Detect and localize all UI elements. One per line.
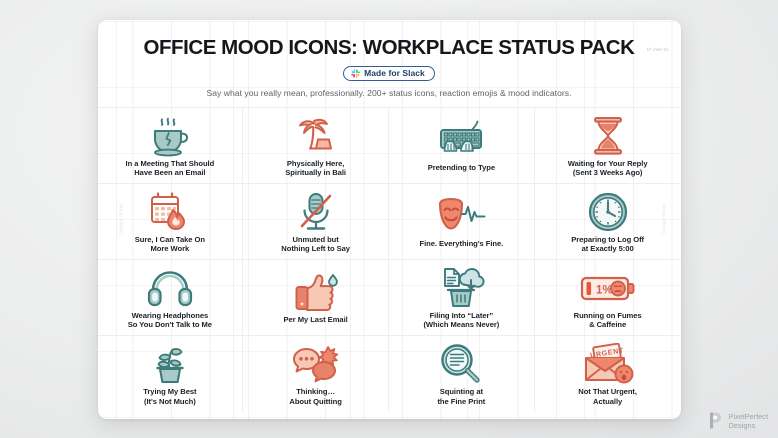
icon-cell-urgent-envelope[interactable]: URGENT Not That Urgent,Actually (535, 336, 681, 412)
magnifier-icon (438, 343, 484, 385)
brand-line-2: Designs (729, 421, 768, 430)
icon-caption: Thinking…About Quitting (289, 387, 341, 406)
brand-line-1: PixelPerfect (729, 412, 768, 421)
icon-caption: Wearing HeadphonesSo You Don't Talk to M… (128, 311, 212, 330)
calendar-fire-icon (147, 191, 193, 233)
wilting-plant-icon (146, 343, 194, 385)
icon-caption: Filing Into “Later”(Which Means Never) (423, 311, 499, 330)
thumbs-up-icon (293, 271, 339, 313)
side-note-left: Design Sheet (118, 204, 123, 234)
icon-cell-thumbs-up[interactable]: Per My Last Email (243, 260, 389, 336)
icon-caption: Physically Here,Spiritually in Bali (285, 159, 346, 178)
page-subtitle: Say what you really mean, professionally… (98, 88, 681, 98)
wall-clock-icon (587, 191, 629, 233)
headphones-icon (146, 267, 194, 309)
battery-percent-label: 1% (596, 284, 613, 296)
icon-cell-palm-laptop[interactable]: Physically Here,Spiritually in Bali (243, 108, 389, 184)
icon-cell-wilting-plant[interactable]: Trying My Best(It's Not Much) (98, 336, 244, 412)
icon-cell-speech-bubbles[interactable]: Thinking…About Quitting (243, 336, 389, 412)
icon-caption: Preparing to Log Offat Exactly 5:00 (571, 235, 644, 254)
badge-label: Made for Slack (364, 68, 425, 78)
icon-cell-smiling-mask[interactable]: Fine. Everything's Fine. (389, 184, 535, 260)
icon-caption: Trying My Best(It's Not Much) (143, 387, 196, 406)
icon-caption: Fine. Everything's Fine. (420, 239, 504, 248)
palm-laptop-icon (291, 115, 341, 157)
icon-caption: Unmuted butNothing Left to Say (281, 235, 350, 254)
icon-cell-wall-clock[interactable]: Preparing to Log Offat Exactly 5:00 (535, 184, 681, 260)
icon-caption: Running on Fumes& Caffeine (574, 311, 642, 330)
icon-caption: Not That Urgent,Actually (578, 387, 637, 406)
file-trash-icon (435, 267, 487, 309)
icon-caption: In a Meeting That ShouldHave Been an Ema… (126, 159, 215, 178)
brand-text: PixelPerfect Designs (729, 412, 768, 431)
slack-icon (351, 69, 360, 78)
icon-cell-file-trash[interactable]: Filing Into “Later”(Which Means Never) (389, 260, 535, 336)
brand-footer: PixelPerfect Designs (708, 412, 768, 431)
icon-cell-magnifier[interactable]: Squinting atthe Fine Print (389, 336, 535, 412)
smiling-mask-icon (433, 195, 489, 237)
poster-card: 17 inter 31 Design Sheet Design Sheet OF… (98, 20, 681, 419)
speech-bubbles-icon (290, 343, 342, 385)
keyboard-hands-icon (435, 119, 487, 161)
corner-note: 17 inter 31 (647, 47, 669, 52)
muted-mic-icon (295, 191, 337, 233)
icon-cell-low-battery[interactable]: 1% Running on Fumes& Caffeine (535, 260, 681, 336)
poster-header: OFFICE MOOD ICONS: WORKPLACE STATUS PACK… (98, 20, 681, 99)
page-title: OFFICE MOOD ICONS: WORKPLACE STATUS PACK (98, 36, 681, 60)
icon-cell-muted-mic[interactable]: Unmuted butNothing Left to Say (243, 184, 389, 260)
urgent-envelope-icon: URGENT (581, 343, 635, 385)
made-for-slack-badge[interactable]: Made for Slack (343, 66, 435, 82)
badge-row: Made for Slack (98, 66, 681, 82)
icon-caption: Per My Last Email (284, 315, 348, 324)
icon-caption: Pretending to Type (428, 163, 495, 172)
icon-caption: Sure, I Can Take OnMore Work (135, 235, 205, 254)
side-note-right: Design Sheet (661, 204, 666, 234)
icon-caption: Waiting for Your Reply(Sent 3 Weeks Ago) (568, 159, 648, 178)
icon-grid: In a Meeting That ShouldHave Been an Ema… (98, 107, 681, 412)
icon-cell-coffee-cup[interactable]: In a Meeting That ShouldHave Been an Ema… (98, 108, 244, 184)
icon-cell-keyboard-hands[interactable]: Pretending to Type (389, 108, 535, 184)
hourglass-icon (588, 115, 628, 157)
icon-cell-hourglass[interactable]: Waiting for Your Reply(Sent 3 Weeks Ago) (535, 108, 681, 184)
coffee-cup-icon (145, 115, 195, 157)
low-battery-icon: 1% (579, 267, 637, 309)
p-logo-icon (708, 412, 724, 429)
icon-cell-headphones[interactable]: Wearing HeadphonesSo You Don't Talk to M… (98, 260, 244, 336)
icon-caption: Squinting atthe Fine Print (437, 387, 485, 406)
